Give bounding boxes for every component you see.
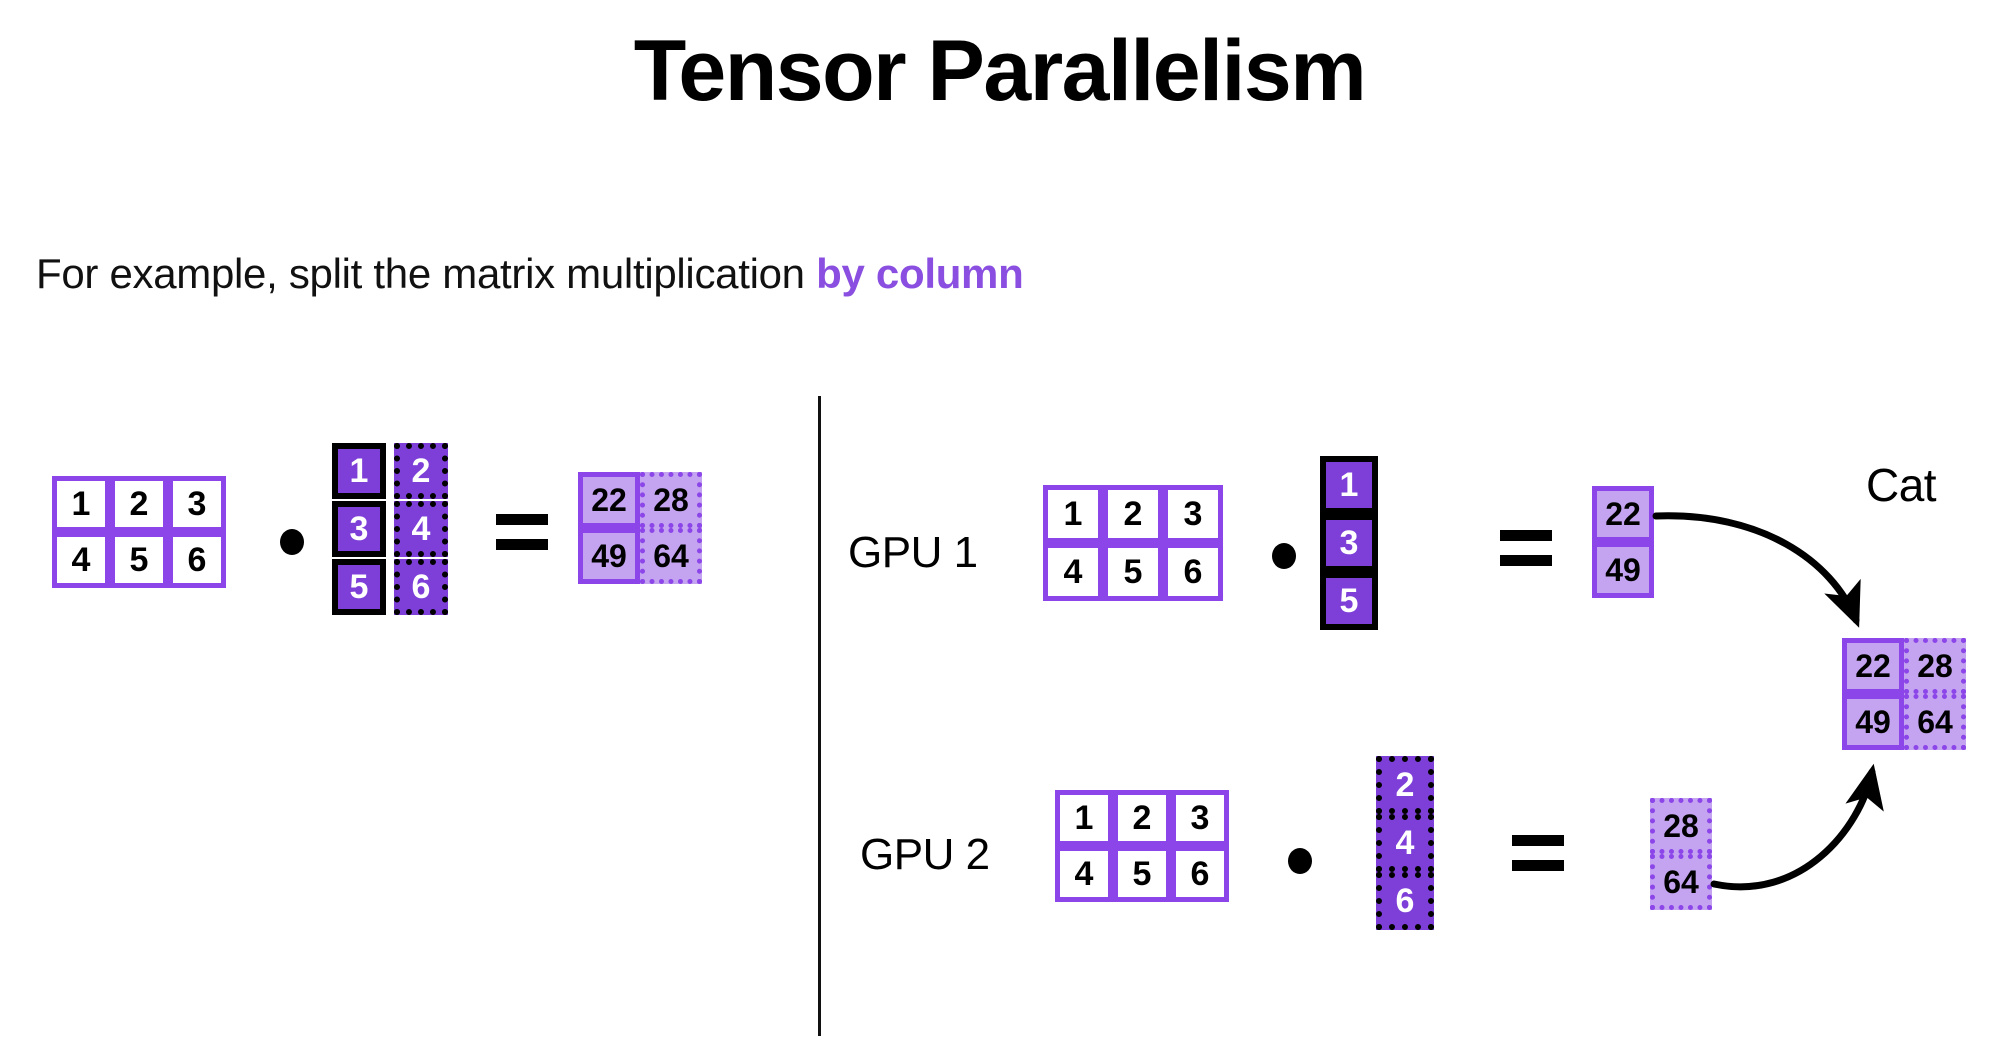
gpu2-result-cell-1: 64: [1650, 854, 1712, 910]
cat-label: Cat: [1866, 458, 1936, 512]
subtitle-accent-text: by column: [816, 250, 1023, 297]
left-matrix-b-cell-r1c1: 4: [394, 501, 448, 557]
equals-operator-left: [496, 514, 548, 550]
left-matrix-a-cell-r1c2: 6: [168, 532, 226, 588]
gpu1-vector-b-cell-0: 1: [1320, 456, 1378, 514]
concat-cell-r0c1: 28: [1904, 638, 1966, 694]
gpu1-result-cell-1: 49: [1592, 542, 1654, 598]
left-matrix-b-cell-r0c0: 1: [332, 443, 386, 499]
dot-product-operator-left: [280, 529, 304, 555]
left-result-cell-r0c1: 28: [640, 472, 702, 528]
left-matrix-a-cell-r0c0: 1: [52, 476, 110, 532]
left-matrix-a-cell-r0c2: 3: [168, 476, 226, 532]
gpu1-matrix-a-cell-r0c1: 2: [1103, 485, 1163, 543]
gpu1-result-cell-0: 22: [1592, 486, 1654, 542]
gpu2-matrix-a-cell-r1c0: 4: [1055, 846, 1113, 902]
gpu2-vector-b-cell-0: 2: [1376, 756, 1434, 814]
subtitle: For example, split the matrix multiplica…: [36, 250, 1023, 298]
left-matrix-a-cell-r1c1: 5: [110, 532, 168, 588]
left-result-cell-r1c0: 49: [578, 528, 640, 584]
gpu1-vector-b-cell-1: 3: [1320, 514, 1378, 572]
dot-product-operator-gpu1: [1272, 543, 1296, 569]
dot-product-operator-gpu2: [1288, 848, 1312, 874]
equals-operator-gpu2: [1512, 835, 1564, 871]
arrow-gpu2-to-concat: [1714, 772, 1872, 887]
left-matrix-b-cell-r1c0: 3: [332, 501, 386, 557]
concat-cell-r1c1: 64: [1904, 694, 1966, 750]
left-matrix-b-cell-r2c1: 6: [394, 559, 448, 615]
gpu2-matrix-a-cell-r1c2: 6: [1171, 846, 1229, 902]
gpu1-label: GPU 1: [848, 528, 978, 578]
gpu1-vector-b-cell-2: 5: [1320, 572, 1378, 630]
equals-operator-gpu1: [1500, 530, 1552, 566]
gpu2-matrix-a-cell-r1c1: 5: [1113, 846, 1171, 902]
gpu2-vector-b-cell-2: 6: [1376, 872, 1434, 930]
gpu2-matrix-a-cell-r0c1: 2: [1113, 790, 1171, 846]
left-result-cell-r0c0: 22: [578, 472, 640, 528]
left-matrix-b-cell-r2c0: 5: [332, 559, 386, 615]
gpu2-matrix-a-cell-r0c0: 1: [1055, 790, 1113, 846]
gpu1-matrix-a-cell-r1c2: 6: [1163, 543, 1223, 601]
arrow-gpu1-to-concat: [1656, 516, 1856, 620]
gpu1-matrix-a-cell-r1c0: 4: [1043, 543, 1103, 601]
gpu2-result-cell-0: 28: [1650, 798, 1712, 854]
gpu1-matrix-a-cell-r1c1: 5: [1103, 543, 1163, 601]
concat-cell-r1c0: 49: [1842, 694, 1904, 750]
left-result-cell-r1c1: 64: [640, 528, 702, 584]
gpu2-matrix-a-cell-r0c2: 3: [1171, 790, 1229, 846]
left-matrix-a-cell-r0c1: 2: [110, 476, 168, 532]
gpu1-matrix-a-cell-r0c2: 3: [1163, 485, 1223, 543]
gpu2-vector-b-cell-1: 4: [1376, 814, 1434, 872]
panel-divider: [818, 396, 821, 1036]
left-matrix-b-cell-r0c1: 2: [394, 443, 448, 499]
gpu2-label: GPU 2: [860, 830, 990, 880]
gpu1-matrix-a-cell-r0c0: 1: [1043, 485, 1103, 543]
left-matrix-a-cell-r1c0: 4: [52, 532, 110, 588]
concat-cell-r0c0: 22: [1842, 638, 1904, 694]
subtitle-plain-text: For example, split the matrix multiplica…: [36, 250, 816, 297]
page-title: Tensor Parallelism: [0, 26, 1999, 116]
